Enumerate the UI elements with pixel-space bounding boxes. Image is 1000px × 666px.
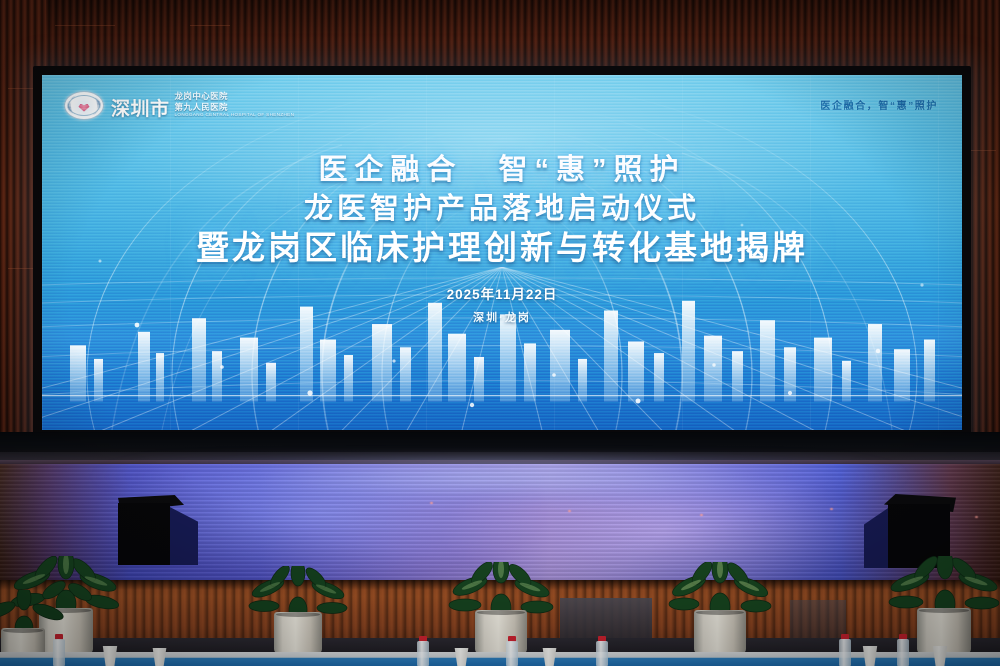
event-date: 2025年11月22日 xyxy=(42,283,962,303)
water-bottle xyxy=(896,634,909,666)
water-bottle xyxy=(595,636,608,666)
plant-pot xyxy=(475,610,527,654)
logo-hospital-name-1: 龙岗中心医院 xyxy=(175,92,295,102)
floor-reflection-speck xyxy=(700,514,703,516)
event-title-line-2: 暨龙岗区临床护理创新与转化基地揭牌 xyxy=(42,230,962,267)
floor-reflection-speck xyxy=(568,510,571,512)
plant-pot xyxy=(694,610,746,654)
potted-plant-3 xyxy=(448,562,554,654)
stage-photo-scene: 深圳市 龙岗中心医院 第九人民医院 LONGGANG CENTRAL HOSPI… xyxy=(0,0,1000,666)
water-bottle xyxy=(416,636,429,666)
led-video-wall[interactable]: 深圳市 龙岗中心医院 第九人民医院 LONGGANG CENTRAL HOSPI… xyxy=(42,75,962,430)
floor-reflection-speck xyxy=(830,508,833,510)
hospital-seal-emblem xyxy=(64,91,104,120)
water-bottle xyxy=(838,634,851,666)
potted-plant-4 xyxy=(668,562,772,654)
hospital-logo: 深圳市 龙岗中心医院 第九人民医院 LONGGANG CENTRAL HOSPI… xyxy=(64,91,294,120)
wall-panel-top xyxy=(0,0,1000,72)
water-bottle xyxy=(505,636,518,666)
event-title-line-1: 龙医智护产品落地启动仪式 xyxy=(42,193,962,225)
logo-hospital-name-english: LONGGANG CENTRAL HOSPITAL OF SHENZHEN xyxy=(175,113,295,118)
wall-seam xyxy=(55,25,115,26)
logo-city-name: 深圳市 xyxy=(111,100,170,119)
logo-hospital-name-2: 第九人民医院 xyxy=(175,103,295,113)
wall-seam xyxy=(190,25,230,26)
corner-slogan: 医企融合，智“惠”照护 xyxy=(820,97,938,112)
water-bottle xyxy=(52,634,65,666)
event-title-block: 医企融合 智“惠”照护 龙医智护产品落地启动仪式 暨龙岗区临床护理创新与转化基地… xyxy=(42,155,962,325)
plant-pot xyxy=(274,612,322,654)
stage-monitor-left xyxy=(118,495,198,565)
potted-plant-2 xyxy=(248,566,348,654)
floor-reflection-speck xyxy=(975,516,978,518)
floor-reflection-speck xyxy=(430,502,433,504)
event-location: 深圳·龙岗 xyxy=(42,309,962,325)
event-theme-line: 医企融合 智“惠”照护 xyxy=(42,155,962,187)
